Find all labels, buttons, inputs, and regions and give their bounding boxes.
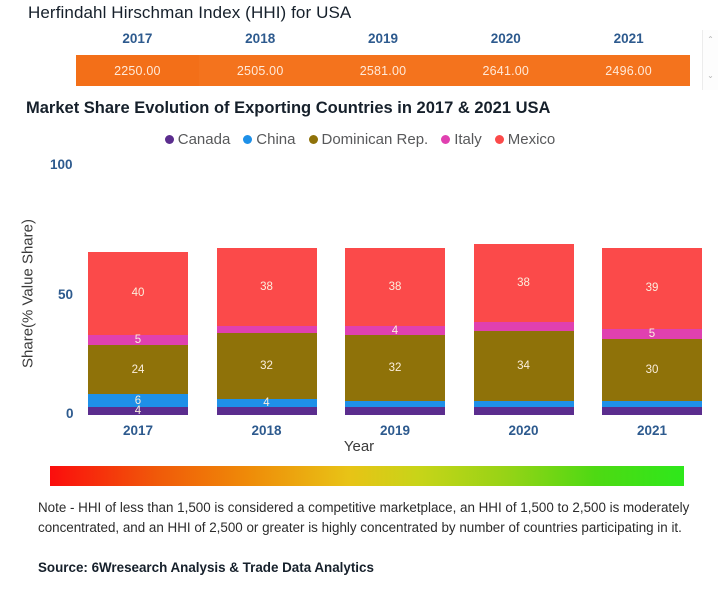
hhi-value-row: 2250.002505.002581.002641.002496.00 xyxy=(76,55,690,86)
x-axis-title: Year xyxy=(309,438,409,455)
bar-segment-mexico-2021[interactable]: 39 xyxy=(602,248,702,328)
x-tick-2017: 2017 xyxy=(88,423,188,438)
chart-legend: CanadaChinaDominican Rep.ItalyMexico xyxy=(140,128,580,150)
legend-item-dominican-rep[interactable]: Dominican Rep. xyxy=(309,131,429,148)
bar-segment-dominican-rep-2020[interactable]: 34 xyxy=(474,331,574,401)
bar-segment-italy-2017[interactable]: 5 xyxy=(88,335,188,345)
x-tick-2020: 2020 xyxy=(474,423,574,438)
legend-item-mexico[interactable]: Mexico xyxy=(495,131,556,148)
bar-value-label: 38 xyxy=(389,281,402,293)
bar-value-label: 40 xyxy=(132,287,145,299)
hhi-year-2018: 2018 xyxy=(199,31,322,53)
bar-value-label: 30 xyxy=(646,364,659,376)
footer-note: Note - HHI of less than 1,500 is conside… xyxy=(38,498,693,537)
legend-item-italy[interactable]: Italy xyxy=(441,131,482,148)
legend-swatch-icon xyxy=(309,135,318,144)
bar-column-2019[interactable]: 38432 xyxy=(345,248,445,415)
concentration-scale-bar xyxy=(50,466,684,486)
hhi-year-2021: 2021 xyxy=(567,31,690,53)
bar-segment-italy-2019[interactable]: 4 xyxy=(345,326,445,334)
bar-column-2018[interactable]: 38324 xyxy=(217,248,317,415)
bar-segment-canada-2019[interactable] xyxy=(345,407,445,415)
bar-segment-canada-2017[interactable]: 4 xyxy=(88,407,188,415)
hhi-value-2019: 2581.00 xyxy=(322,55,445,86)
hhi-year-header-row: 20172018201920202021 xyxy=(76,31,690,53)
footer-source: Source: 6Wresearch Analysis & Trade Data… xyxy=(38,560,374,575)
hhi-value-2018: 2505.00 xyxy=(199,55,322,86)
bar-value-label: 39 xyxy=(646,282,659,294)
hhi-chart-page: Herfindahl Hirschman Index (HHI) for USA… xyxy=(0,0,718,600)
bar-segment-mexico-2017[interactable]: 40 xyxy=(88,252,188,334)
legend-swatch-icon xyxy=(165,135,174,144)
chart-plot-area: 100 50 0 Share(% Value Share) 4052464201… xyxy=(0,150,718,450)
legend-item-canada[interactable]: Canada xyxy=(165,131,231,148)
hhi-value-2020: 2641.00 xyxy=(444,55,567,86)
chart-title: Market Share Evolution of Exporting Coun… xyxy=(26,99,550,118)
bar-value-label: 4 xyxy=(135,405,141,417)
legend-swatch-icon xyxy=(243,135,252,144)
legend-label: China xyxy=(256,131,295,148)
x-tick-2021: 2021 xyxy=(602,423,702,438)
bar-segment-canada-2018[interactable] xyxy=(217,407,317,415)
hhi-value-2021: 2496.00 xyxy=(567,55,690,86)
vertical-scrollbar[interactable]: ⌃ ⌄ xyxy=(702,30,718,90)
bar-segment-mexico-2020[interactable]: 38 xyxy=(474,244,574,322)
bar-value-label: 38 xyxy=(517,277,530,289)
bar-value-label: 24 xyxy=(132,364,145,376)
bar-value-label: 32 xyxy=(389,362,402,374)
bar-value-label: 32 xyxy=(260,360,273,372)
scroll-down-arrow-icon[interactable]: ⌄ xyxy=(703,68,718,83)
bar-column-2017[interactable]: 4052464 xyxy=(88,252,188,415)
hhi-year-2020: 2020 xyxy=(444,31,567,53)
scroll-up-arrow-icon[interactable]: ⌃ xyxy=(703,32,718,47)
legend-label: Dominican Rep. xyxy=(322,131,429,148)
legend-swatch-icon xyxy=(441,135,450,144)
bar-segment-dominican-rep-2017[interactable]: 24 xyxy=(88,345,188,394)
stacked-bars-container: 4052464201738324201838432201938342020395… xyxy=(0,150,718,450)
bar-segment-china-2018[interactable]: 4 xyxy=(217,399,317,407)
bar-segment-mexico-2019[interactable]: 38 xyxy=(345,248,445,326)
legend-label: Mexico xyxy=(508,131,556,148)
legend-swatch-icon xyxy=(495,135,504,144)
hhi-title: Herfindahl Hirschman Index (HHI) for USA xyxy=(28,3,351,23)
bar-column-2021[interactable]: 39530 xyxy=(602,248,702,415)
bar-segment-canada-2021[interactable] xyxy=(602,407,702,415)
hhi-year-2017: 2017 xyxy=(76,31,199,53)
x-tick-2019: 2019 xyxy=(345,423,445,438)
bar-segment-dominican-rep-2019[interactable]: 32 xyxy=(345,335,445,401)
bar-column-2020[interactable]: 3834 xyxy=(474,244,574,415)
bar-segment-dominican-rep-2018[interactable]: 32 xyxy=(217,333,317,399)
legend-label: Canada xyxy=(178,131,231,148)
bar-segment-mexico-2018[interactable]: 38 xyxy=(217,248,317,326)
bar-segment-canada-2020[interactable] xyxy=(474,407,574,415)
bar-segment-dominican-rep-2021[interactable]: 30 xyxy=(602,339,702,401)
x-tick-2018: 2018 xyxy=(217,423,317,438)
legend-label: Italy xyxy=(454,131,482,148)
bar-segment-italy-2021[interactable]: 5 xyxy=(602,329,702,339)
bar-value-label: 34 xyxy=(517,360,530,372)
bar-value-label: 38 xyxy=(260,281,273,293)
hhi-year-2019: 2019 xyxy=(322,31,445,53)
legend-item-china[interactable]: China xyxy=(243,131,295,148)
bar-segment-italy-2020[interactable] xyxy=(474,322,574,330)
hhi-value-2017: 2250.00 xyxy=(76,55,199,86)
